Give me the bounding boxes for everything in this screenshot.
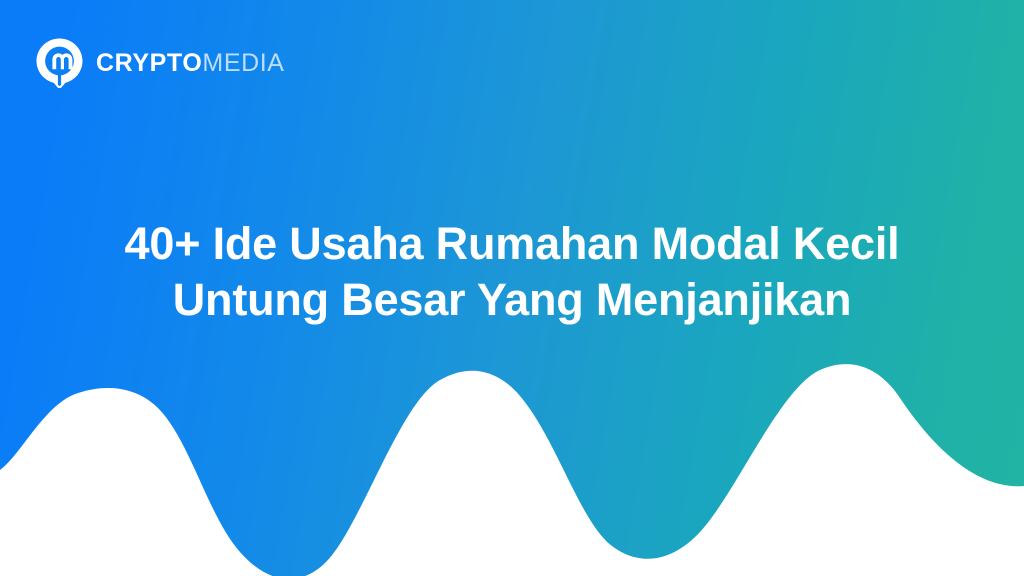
wave-shape: [0, 364, 1024, 576]
brand-wordmark: CRYPTOMEDIA: [96, 51, 285, 76]
banner-canvas: CRYPTOMEDIA 40+ Ide Usaha Rumahan Modal …: [0, 0, 1024, 576]
page-title-line-2: Untung Besar Yang Menjanjikan: [40, 272, 984, 328]
wave-decoration: [0, 346, 1024, 576]
brand-wordmark-light: MEDIA: [202, 51, 284, 76]
brand-wordmark-bold: CRYPTO: [96, 51, 202, 76]
brand-logo[interactable]: CRYPTOMEDIA: [36, 38, 285, 88]
page-title: 40+ Ide Usaha Rumahan Modal Kecil Untung…: [0, 216, 1024, 329]
page-title-line-1: 40+ Ide Usaha Rumahan Modal Kecil: [40, 216, 984, 272]
crypto-media-pin-m-logo-icon: [36, 38, 83, 88]
